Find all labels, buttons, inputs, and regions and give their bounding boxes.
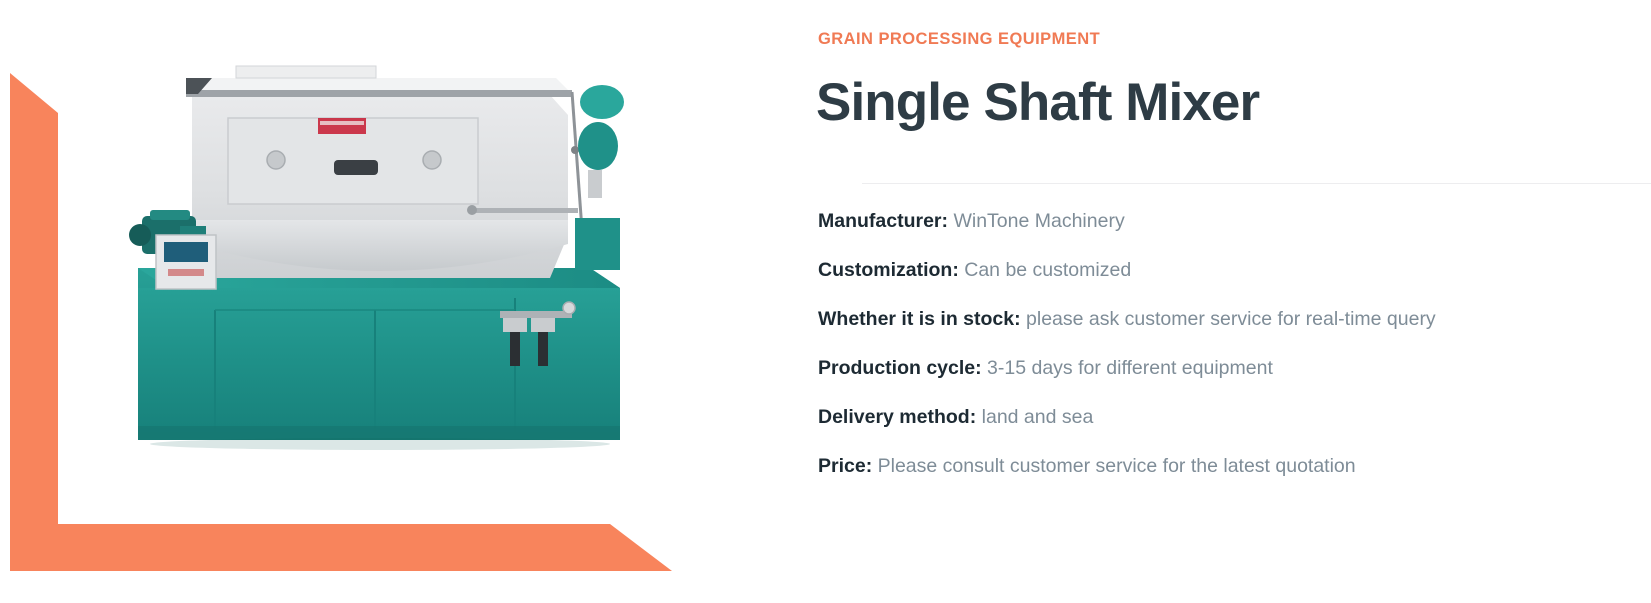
spec-value: please ask customer service for real-tim… <box>1026 308 1436 330</box>
page-title: Single Shaft Mixer <box>816 72 1259 133</box>
spec-row: Manufacturer: WinTone Machinery <box>818 196 1651 245</box>
product-detail-page: GRAIN PROCESSING EQUIPMENT Single Shaft … <box>0 0 1651 603</box>
spec-value: 3-15 days for different equipment <box>987 357 1273 379</box>
spec-label: Production cycle: <box>818 357 982 379</box>
spec-row: Delivery method: land and sea <box>818 392 1651 441</box>
product-image <box>120 30 690 480</box>
product-detail-panel: GRAIN PROCESSING EQUIPMENT Single Shaft … <box>810 0 1651 603</box>
spec-row: Production cycle: 3-15 days for differen… <box>818 343 1651 392</box>
title-divider <box>862 183 1651 184</box>
spec-value: Can be customized <box>964 259 1131 281</box>
spec-value: Please consult customer service for the … <box>878 455 1356 477</box>
spec-row: Whether it is in stock: please ask custo… <box>818 294 1651 343</box>
spec-label: Customization: <box>818 259 959 281</box>
spec-value: land and sea <box>982 406 1094 428</box>
spec-label: Manufacturer: <box>818 210 948 232</box>
spec-label: Delivery method: <box>818 406 976 428</box>
product-spec-list: Manufacturer: WinTone Machinery Customiz… <box>818 196 1651 490</box>
spec-row: Customization: Can be customized <box>818 245 1651 294</box>
product-category-eyebrow: GRAIN PROCESSING EQUIPMENT <box>818 30 1100 49</box>
spec-row: Price: Please consult customer service f… <box>818 441 1651 490</box>
spec-label: Price: <box>818 455 872 477</box>
spec-value: WinTone Machinery <box>953 210 1124 232</box>
spec-label: Whether it is in stock: <box>818 308 1021 330</box>
product-visual-panel <box>0 0 810 603</box>
